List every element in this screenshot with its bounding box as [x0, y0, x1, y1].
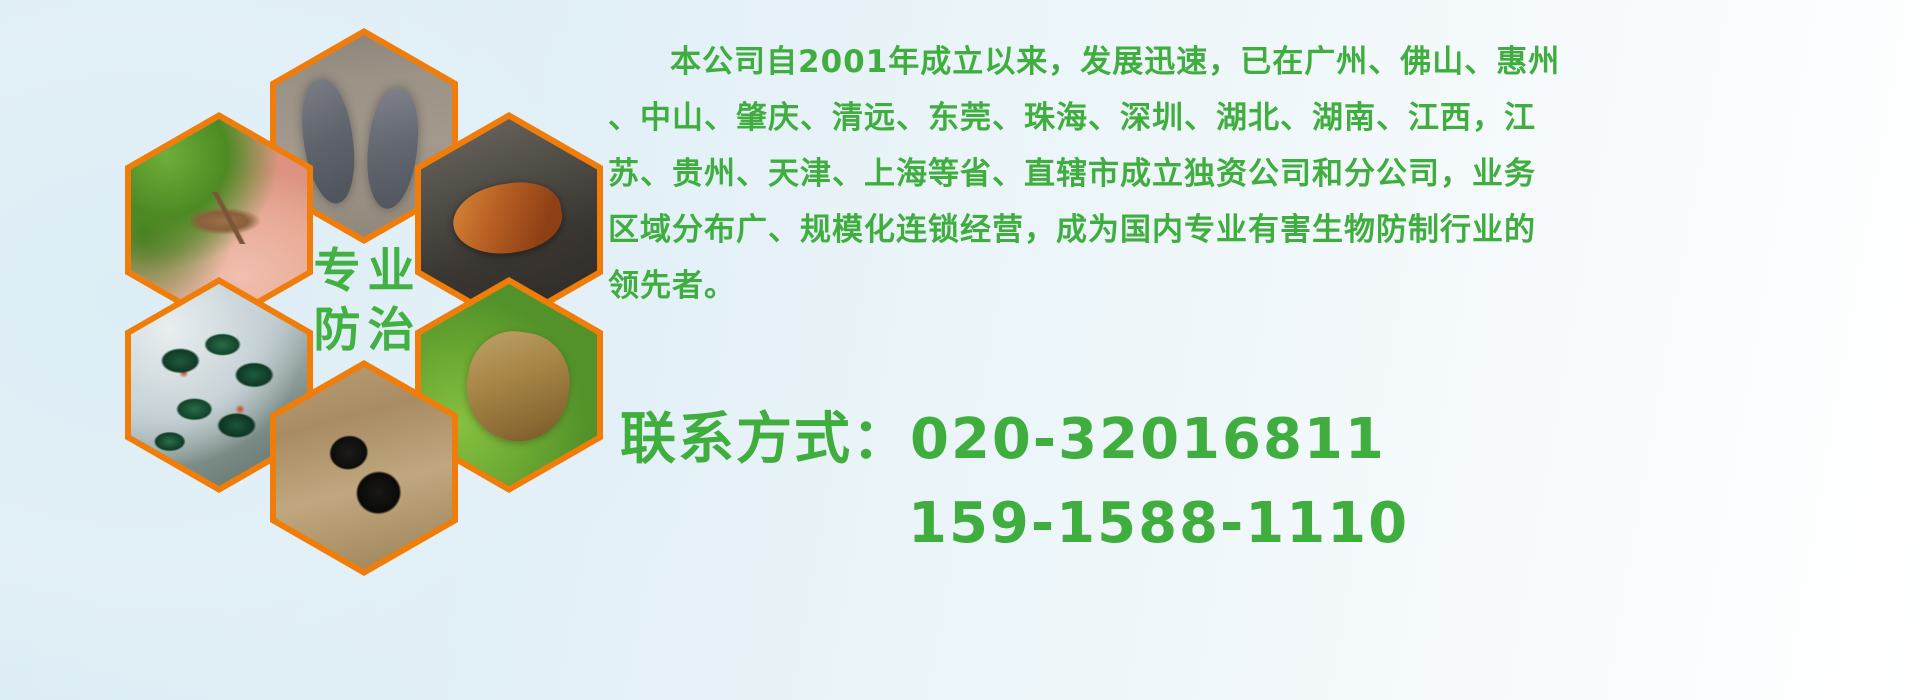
contact-phone-mobile[interactable]: 159-1588-1110	[620, 482, 1900, 566]
description-line-5: 领先者。	[608, 258, 1908, 314]
description-line-1: 本公司自2001年成立以来，发展迅速，已在广州、佛山、惠州	[608, 34, 1908, 90]
company-description-paragraph: 本公司自2001年成立以来，发展迅速，已在广州、佛山、惠州 、中山、肇庆、清远、…	[608, 34, 1908, 314]
company-description: 本公司自2001年成立以来，发展迅速，已在广州、佛山、惠州 、中山、肇庆、清远、…	[608, 34, 1908, 314]
description-line-2: 、中山、肇庆、清远、东莞、珠海、深圳、湖北、湖南、江西，江	[608, 90, 1908, 146]
promotional-banner: 专业 防治 本公司自2001年成立以来，发展迅速，已在广州、佛山、惠州 、中山、…	[0, 0, 1920, 700]
contact-block: 联系方式：020-32016811 159-1588-1110	[620, 398, 1900, 566]
hex-cell-slogan-frame: 专业 防治	[276, 201, 452, 403]
contact-phone-primary[interactable]: 联系方式：020-32016811	[620, 398, 1900, 482]
description-line-4: 区域分布广、规模化连锁经营，成为国内专业有害生物防制行业的	[608, 202, 1908, 258]
hexagon-photo-cluster: 专业 防治	[100, 0, 600, 580]
slogan-line-2: 防治	[307, 302, 422, 361]
description-line-3: 苏、贵州、天津、上海等省、直辖市成立独资公司和分公司，业务	[608, 146, 1908, 202]
slogan-line-1: 专业	[307, 243, 422, 302]
